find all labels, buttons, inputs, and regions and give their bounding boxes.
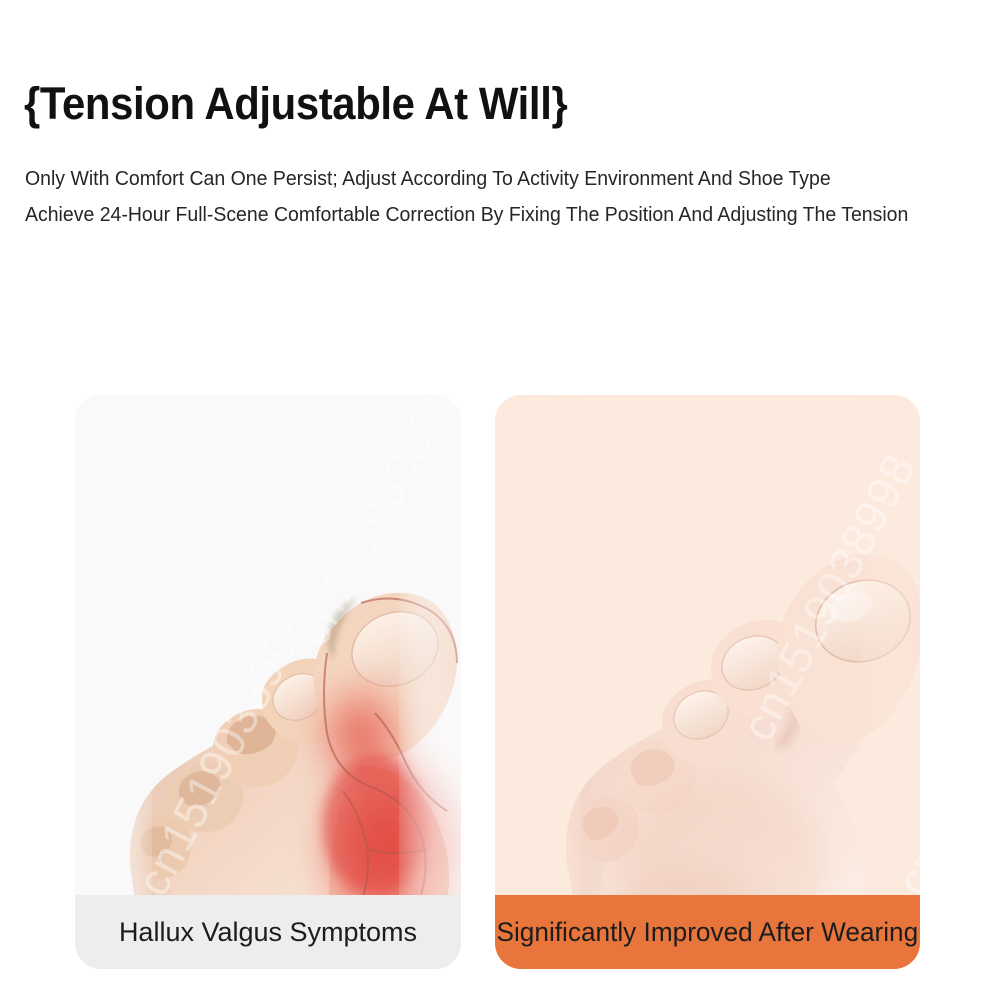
product-marketing-page: {Tension Adjustable At Will} Only With C… <box>0 0 1000 1000</box>
caption-before-label: Hallux Valgus Symptoms <box>119 917 417 947</box>
caption-after-label: Significantly Improved After Wearing <box>497 917 919 947</box>
comparison-card-after: cn1519038998 cn1519038998 Significantly … <box>495 395 920 969</box>
comparison-card-before: cn1519038998 cn1519038998 Hallux Valgus … <box>75 395 461 969</box>
caption-before: Hallux Valgus Symptoms <box>75 895 461 969</box>
foot-with-bunion-photo <box>75 395 461 969</box>
caption-after: Significantly Improved After Wearing <box>495 895 920 969</box>
healthy-foot-photo <box>495 395 920 969</box>
before-after-comparison: cn1519038998 cn1519038998 Hallux Valgus … <box>0 0 1000 1000</box>
